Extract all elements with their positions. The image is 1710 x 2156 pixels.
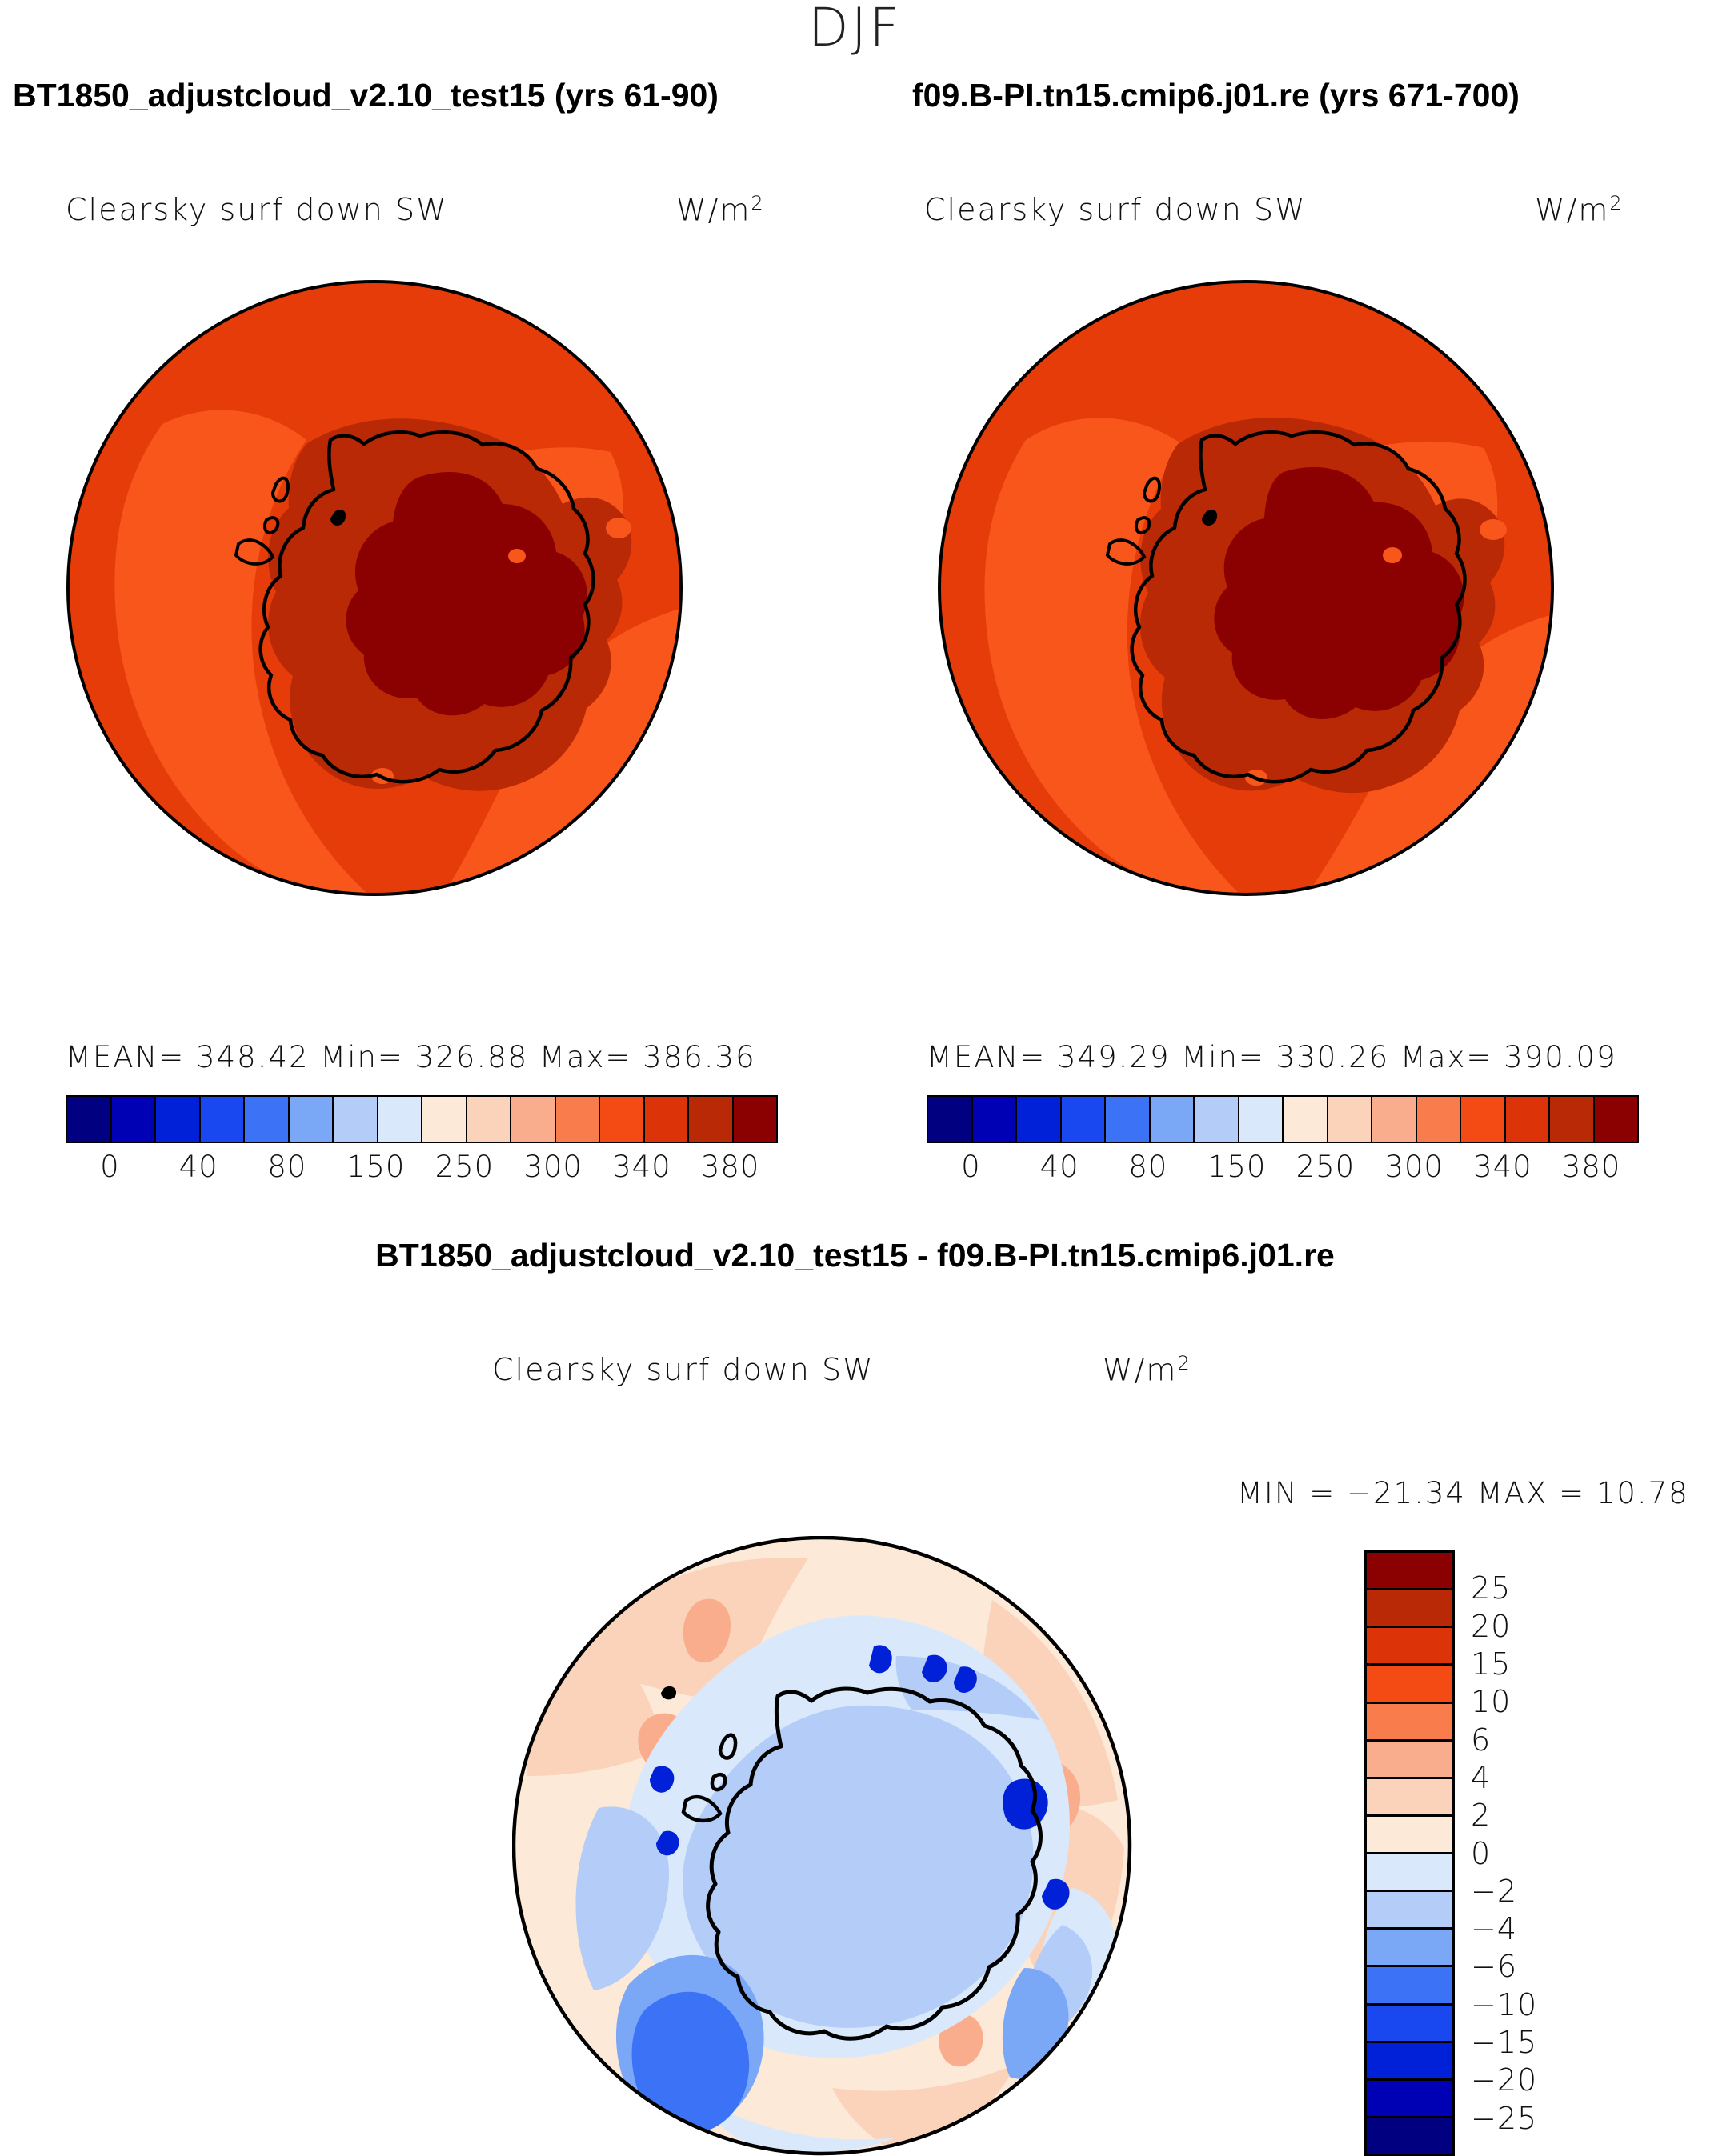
right-stats: MEAN= 349.29 Min= 330.26 Max= 390.09	[927, 1040, 1617, 1074]
diff-colorbar-tick-label: −20	[1471, 2062, 1537, 2098]
colorbar-cell	[422, 1097, 467, 1142]
colorbar-tick-label: 250	[435, 1150, 495, 1184]
left-map-svg	[66, 280, 683, 896]
colorbar-cell	[1106, 1097, 1151, 1142]
colorbar-cell	[1417, 1097, 1462, 1142]
diff-minmax-label: MIN = −21.34 MAX = 10.78	[1237, 1476, 1689, 1510]
colorbar-cell	[556, 1097, 601, 1142]
left-map-subtitle: Clearsky surf down SW	[66, 192, 448, 227]
colorbar-cell	[201, 1097, 246, 1142]
colorbar-cell	[156, 1097, 201, 1142]
colorbar-cell	[1195, 1097, 1239, 1142]
diff-colorbar-cell	[1367, 2081, 1452, 2118]
diff-colorbar-cell	[1367, 1628, 1452, 1666]
diff-colorbar-cell	[1367, 1704, 1452, 1742]
diff-colorbar-tick-label: 0	[1471, 1836, 1491, 1871]
colorbar-cell	[1461, 1097, 1506, 1142]
diff-colorbar-cell	[1367, 1967, 1452, 2005]
diff-colorbar-tick-label: 6	[1471, 1722, 1491, 1758]
colorbar-tick-label: 340	[612, 1150, 671, 1184]
colorbar-cell	[645, 1097, 690, 1142]
left-panel-header: BT1850_adjustcloud_v2.10_test15 (yrs 61-…	[13, 77, 719, 114]
colorbar-cell	[511, 1097, 556, 1142]
difference-panel-header: BT1850_adjustcloud_v2.10_test15 - f09.B-…	[0, 1237, 1710, 1274]
diff-colorbar-cell	[1367, 2118, 1452, 2154]
diff-colorbar-tick-label: −15	[1471, 2025, 1537, 2060]
left-units-exponent: 2	[751, 192, 763, 214]
diff-colorbar-tick-label: 2	[1471, 1798, 1491, 1833]
colorbar-cell	[67, 1097, 112, 1142]
right-units-text: W/m	[1535, 193, 1609, 228]
colorbar-cell	[378, 1097, 423, 1142]
colorbar-cell	[928, 1097, 973, 1142]
diff-colorbar-tick-label: 25	[1471, 1570, 1511, 1606]
diff-map-subtitle: Clearsky surf down SW	[492, 1352, 875, 1387]
right-colorbar-ticks: 04080150250300340380	[927, 1150, 1636, 1190]
colorbar-tick-label: 40	[179, 1150, 218, 1184]
colorbar-cell	[1550, 1097, 1595, 1142]
diff-units-exponent: 2	[1177, 1352, 1189, 1374]
diff-colorbar-cell	[1367, 1779, 1452, 1817]
difference-polar-map	[512, 1536, 1132, 2156]
colorbar-tick-label: 340	[1473, 1150, 1532, 1184]
colorbar-cell	[1506, 1097, 1551, 1142]
colorbar-tick-label: 380	[701, 1150, 760, 1184]
colorbar-tick-label: 0	[961, 1150, 981, 1184]
diff-colorbar-cell	[1367, 2006, 1452, 2043]
colorbar-tick-label: 150	[1207, 1150, 1267, 1184]
diff-colorbar-tick-label: 20	[1471, 1609, 1511, 1644]
colorbar-tick-label: 150	[346, 1150, 406, 1184]
diff-units-text: W/m	[1103, 1353, 1177, 1388]
right-map-fill	[939, 282, 1552, 896]
colorbar-cell	[334, 1097, 378, 1142]
left-units-text: W/m	[676, 193, 751, 228]
colorbar-cell	[290, 1097, 334, 1142]
diff-colorbar-cell	[1367, 1590, 1452, 1628]
colorbar-tick-label: 380	[1562, 1150, 1621, 1184]
right-patch-b	[1383, 547, 1402, 563]
right-patch-a	[1480, 519, 1507, 540]
colorbar-cell	[734, 1097, 777, 1142]
left-polar-map	[66, 280, 683, 896]
colorbar-cell	[1372, 1097, 1417, 1142]
diff-colorbar-cell	[1367, 1930, 1452, 1967]
colorbar-cell	[600, 1097, 645, 1142]
difference-colorbar[interactable]	[1364, 1550, 1455, 2156]
colorbar-tick-label: 250	[1296, 1150, 1356, 1184]
diff-colorbar-cell	[1367, 2043, 1452, 2081]
left-colorbar-ticks: 04080150250300340380	[66, 1150, 775, 1190]
right-map-subtitle: Clearsky surf down SW	[924, 192, 1307, 227]
colorbar-tick-label: 80	[1128, 1150, 1167, 1184]
colorbar-cell	[467, 1097, 512, 1142]
diff-colorbar-tick-label: 4	[1471, 1760, 1491, 1795]
right-colorbar[interactable]	[927, 1095, 1639, 1143]
right-polar-map	[938, 280, 1554, 896]
diff-colorbar-tick-label: −6	[1471, 1949, 1517, 1984]
colorbar-cell	[245, 1097, 290, 1142]
colorbar-cell	[1328, 1097, 1373, 1142]
left-map-units: W/m2	[676, 192, 763, 228]
diff-colorbar-tick-label: 15	[1471, 1646, 1511, 1682]
colorbar-tick-label: 0	[100, 1150, 120, 1184]
right-map-units: W/m2	[1535, 192, 1622, 228]
diff-map-svg	[512, 1536, 1132, 2156]
colorbar-tick-label: 300	[1384, 1150, 1444, 1184]
left-colorbar[interactable]	[66, 1095, 778, 1143]
colorbar-cell	[112, 1097, 157, 1142]
diff-colorbar-cell	[1367, 1854, 1452, 1892]
colorbar-cell	[973, 1097, 1018, 1142]
diff-colorbar-tick-label: −2	[1471, 1874, 1517, 1909]
colorbar-cell	[1239, 1097, 1284, 1142]
difference-colorbar-ticks: 252015106420−2−4−6−10−15−20−25	[1471, 1550, 1679, 2156]
colorbar-tick-label: 40	[1040, 1150, 1079, 1184]
diff-colorbar-tick-label: −25	[1471, 2101, 1537, 2136]
diff-map-units: W/m2	[1103, 1352, 1190, 1388]
right-panel-header: f09.B-PI.tn15.cmip6.j01.re (yrs 671-700)	[912, 77, 1520, 114]
colorbar-tick-label: 80	[267, 1150, 306, 1184]
colorbar-cell	[1062, 1097, 1107, 1142]
diff-colorbar-cell	[1367, 1553, 1452, 1590]
left-stats: MEAN= 348.42 Min= 326.88 Max= 386.36	[66, 1040, 756, 1074]
diff-map-fill	[514, 1538, 1130, 2154]
colorbar-cell	[1151, 1097, 1195, 1142]
left-patch-a	[606, 518, 631, 538]
diff-colorbar-tick-label: −10	[1471, 1987, 1537, 2022]
diff-colorbar-cell	[1367, 1666, 1452, 1703]
colorbar-tick-label: 300	[523, 1150, 583, 1184]
colorbar-cell	[1284, 1097, 1328, 1142]
right-map-svg	[938, 280, 1554, 896]
figure-title: DJF	[0, 0, 1710, 58]
diff-colorbar-cell	[1367, 1742, 1452, 1779]
colorbar-cell	[1017, 1097, 1062, 1142]
colorbar-cell	[689, 1097, 734, 1142]
colorbar-cell	[1595, 1097, 1638, 1142]
diff-colorbar-tick-label: 10	[1471, 1684, 1511, 1719]
diff-colorbar-cell	[1367, 1892, 1452, 1930]
diff-colorbar-tick-label: −4	[1471, 1911, 1517, 1946]
left-patch-b	[508, 549, 526, 563]
diff-colorbar-cell	[1367, 1817, 1452, 1854]
right-units-exponent: 2	[1609, 192, 1621, 214]
